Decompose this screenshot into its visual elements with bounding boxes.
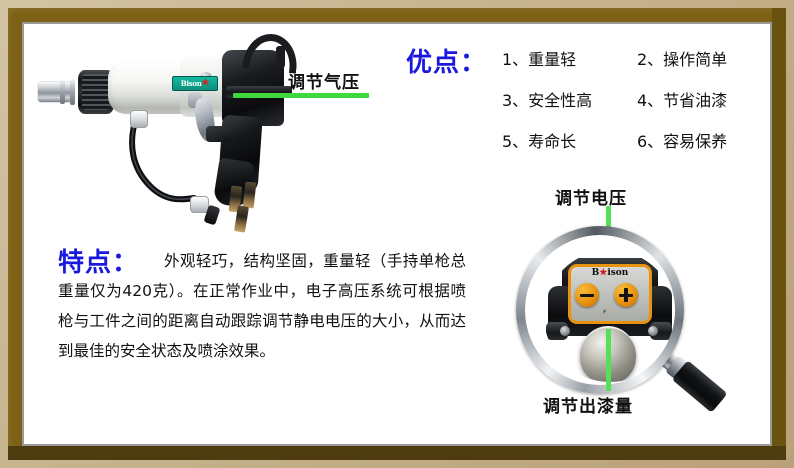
brand-badge: Bison ★ xyxy=(172,76,218,91)
magnifier-glass: B★ison ⚡ xyxy=(506,220,736,420)
frame-shadow-bottom xyxy=(8,446,786,460)
poster-canvas: Bison ★ 调节气压 优点： 1、重量轻 2、操作简单 3、安全性高 4、节… xyxy=(24,24,770,444)
spark-icon: ⚡ xyxy=(602,308,607,316)
advantage-item: 2、操作简单 xyxy=(637,46,770,70)
gun-nozzle-tip xyxy=(38,82,72,102)
callout-line-air-pressure xyxy=(233,93,369,98)
advantages-row: 3、安全性高 4、节省油漆 xyxy=(502,87,770,111)
callout-line-paint-output xyxy=(606,329,611,391)
frame-shadow-right xyxy=(772,8,786,460)
advantage-item: 3、安全性高 xyxy=(502,87,637,111)
advantage-item: 1、重量轻 xyxy=(502,46,637,70)
brand-badge-star: ★ xyxy=(202,79,210,88)
advantage-item: 5、寿命长 xyxy=(502,128,637,152)
gun-hook-stem xyxy=(276,46,285,68)
minus-icon xyxy=(580,294,594,298)
housing-nut-left xyxy=(560,326,570,336)
callout-label-air-pressure: 调节气压 xyxy=(288,68,360,93)
housing-nut-right xyxy=(648,326,658,336)
plus-icon-v xyxy=(624,288,628,302)
gun-hose xyxy=(126,114,244,210)
advantages-title: 优点： xyxy=(406,42,487,79)
voltage-increase-button[interactable] xyxy=(614,283,638,307)
advantages-row: 5、寿命长 6、容易保养 xyxy=(502,128,770,152)
spray-gun-image: Bison ★ xyxy=(30,30,330,235)
advantage-item: 6、容易保养 xyxy=(637,128,770,152)
advantages-list: 1、重量轻 2、操作简单 3、安全性高 4、节省油漆 5、寿命长 6、容易保养 xyxy=(502,46,770,169)
magnifier-ring: B★ison ⚡ xyxy=(516,226,684,394)
gun-brass-connector xyxy=(243,181,257,208)
brand-badge-text: Bison xyxy=(181,79,202,88)
panel-logo-post: ison xyxy=(607,268,628,278)
voltage-decrease-button[interactable] xyxy=(575,283,599,307)
panel-brand-logo: B★ison xyxy=(574,268,646,280)
gun-collar-ridges xyxy=(82,74,110,110)
magnifier-grip xyxy=(672,360,728,413)
advantages-row: 1、重量轻 2、操作简单 xyxy=(502,46,770,70)
gun-tip-ring xyxy=(70,79,75,105)
callout-label-paint-output: 调节出漆量 xyxy=(543,392,633,417)
gun-tip-ring xyxy=(60,80,65,104)
hose-fitting-top xyxy=(130,110,148,128)
advantage-item: 4、节省油漆 xyxy=(637,87,770,111)
picture-frame-outer: Bison ★ 调节气压 优点： 1、重量轻 2、操作简单 3、安全性高 4、节… xyxy=(0,0,794,468)
callout-label-voltage: 调节电压 xyxy=(555,184,627,209)
features-title: 特点： xyxy=(58,242,139,279)
